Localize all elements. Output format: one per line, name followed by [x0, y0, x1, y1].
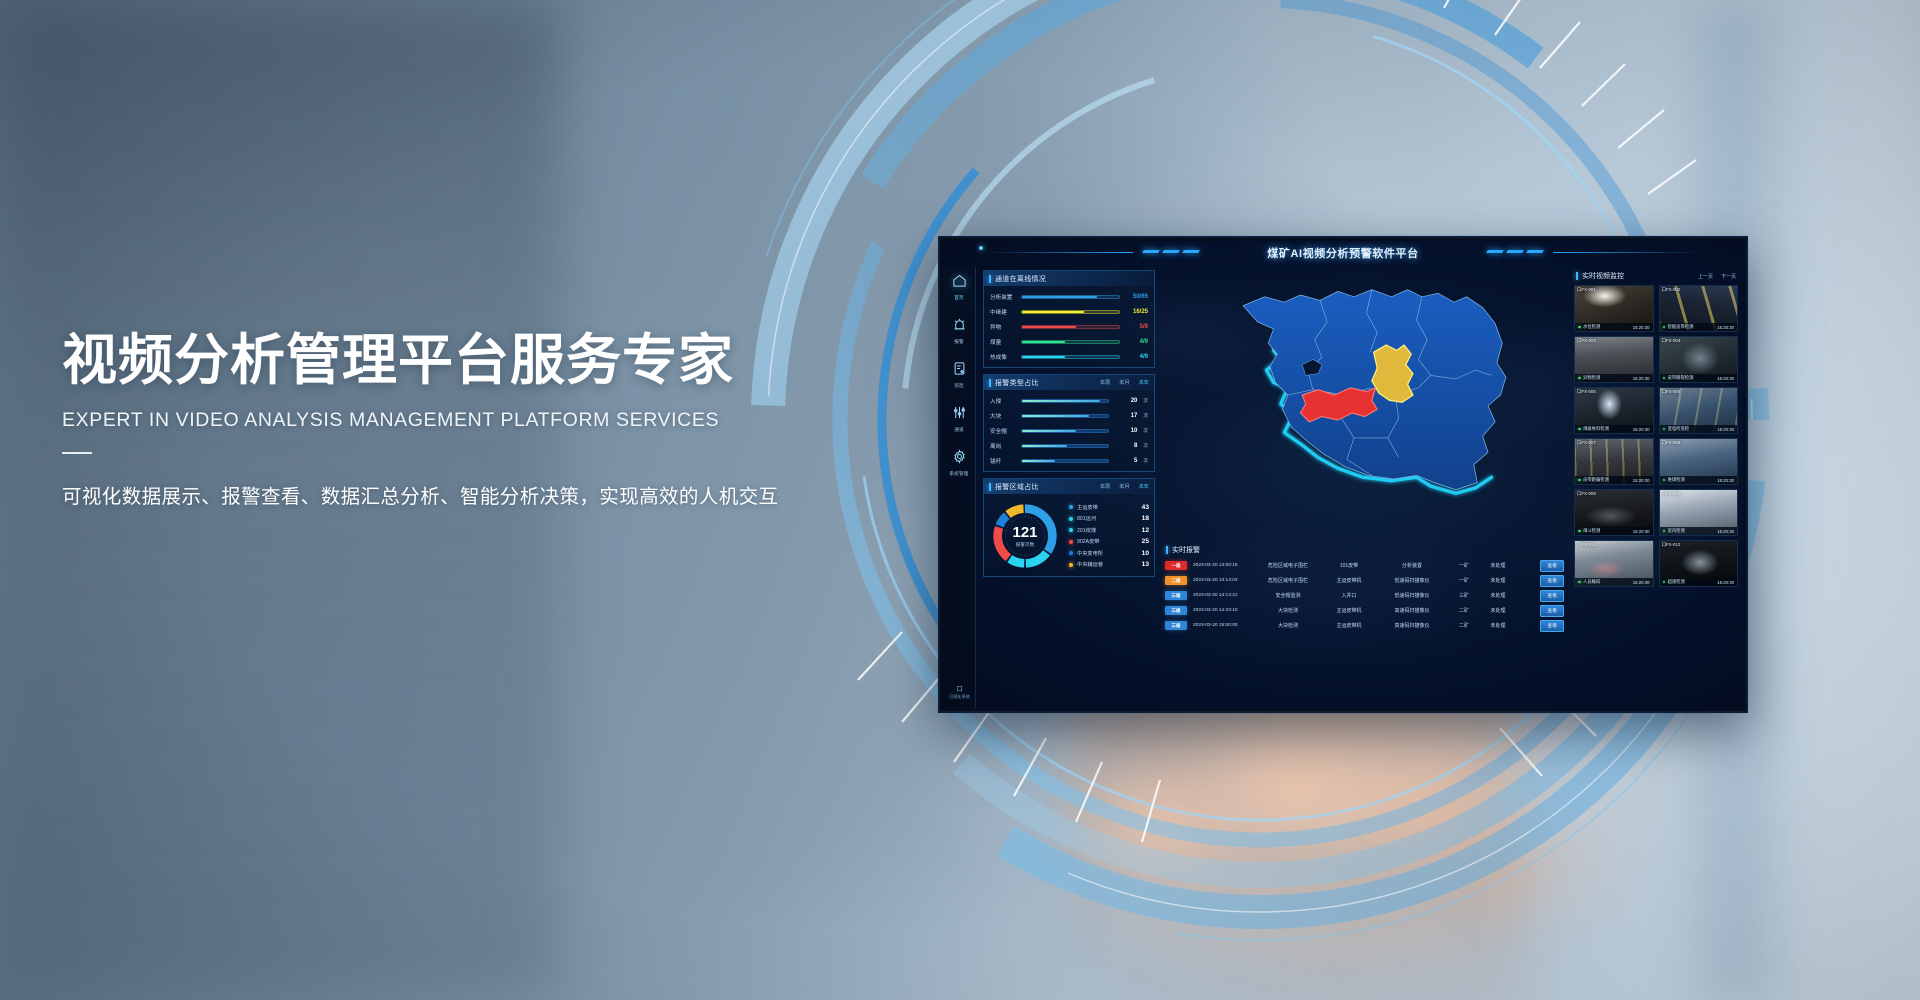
video-tile-footer: 异物检测15:20:30: [1575, 374, 1653, 382]
video-next-page-button[interactable]: 下一页: [1721, 273, 1736, 280]
alarm-type-fill: [1022, 445, 1067, 448]
channel-status-panel: 通道在离线情况 分析装置50/65中继建16/25异物5/9煤量4/9热成像4/…: [983, 270, 1155, 368]
panel-accent-bar-icon: [1166, 546, 1168, 554]
video-tile-name: 皮带撕裂检测: [1668, 375, 1694, 381]
alarm-type-value: 20: [1114, 398, 1137, 404]
view-alarm-button[interactable]: 查看: [1540, 620, 1564, 632]
online-status-icon: [1663, 581, 1666, 584]
realtime-alarm-table: 一级2023-03-20 13:00:16危险区域电子围栏101皮带分析装置一矿…: [1162, 558, 1571, 633]
video-tile-time: 15:20:30: [1633, 529, 1650, 534]
video-tile-footer: 煤斗检测15:20:30: [1575, 527, 1653, 535]
alarm-type-name: 安全帽: [990, 427, 1016, 435]
alarm-type-track: [1021, 429, 1109, 434]
sidebar-item-channel[interactable]: 通道: [943, 405, 976, 433]
channel-row-name: 热成像: [990, 353, 1016, 361]
alarm-type-tab-本月[interactable]: 本月: [1119, 379, 1129, 386]
donut-legend-item: 801运河18: [1069, 515, 1149, 522]
settings-icon: [952, 449, 967, 469]
video-panel-title: 实时视频监控: [1582, 271, 1624, 281]
alarm-type-track: [1021, 399, 1109, 404]
alarm-type-unit: 次: [1143, 398, 1148, 404]
legend-value: 18: [1142, 515, 1149, 522]
legend-color-dot-icon: [1069, 563, 1073, 567]
alarm-mine: 三矿: [1447, 592, 1481, 599]
online-status-icon: [1663, 530, 1666, 533]
video-camera-id: 口FX-002: [1662, 287, 1681, 293]
video-camera-id: 口FX-012: [1662, 542, 1681, 548]
hero-title: 视频分析管理平台服务专家: [62, 328, 782, 393]
alarm-status: 未处理: [1481, 592, 1515, 599]
online-status-icon: [1663, 479, 1666, 482]
legend-label: 201绞煤: [1077, 527, 1138, 534]
dashboard-sidebar: 首页 报警 巡检 通道: [943, 267, 976, 708]
alarm-area-tab-本周[interactable]: 本周: [1100, 483, 1110, 490]
alarm-type-name: 锚杆: [990, 457, 1016, 465]
video-surveillance-panel: 实时视频监控 上一页 下一页 口FX-001水位检测15:20:30口FX-00…: [1574, 270, 1738, 705]
legend-color-dot-icon: [1069, 505, 1073, 509]
alarm-type-fill: [1022, 430, 1076, 433]
sidebar-item-home[interactable]: 首页: [943, 273, 976, 301]
channel-row-fill: [1022, 296, 1097, 299]
alarm-location: 主运皮带机: [1321, 607, 1377, 614]
channel-row-track: [1021, 325, 1120, 330]
channel-row-value: 50/65: [1125, 294, 1148, 300]
alarm-device: 高速码扫描像仪: [1377, 622, 1447, 629]
video-tile-footer: 皮带跑偏检测15:20:30: [1575, 476, 1653, 484]
video-tile[interactable]: 口FX-008堆煤检测15:20:30: [1659, 438, 1739, 485]
video-tile-footer: 室内检测15:20:30: [1660, 527, 1738, 535]
alarm-type-value: 10: [1114, 428, 1137, 434]
hero-text-block: 视频分析管理平台服务专家 EXPERT IN VIDEO ANALYSIS MA…: [62, 328, 782, 509]
legend-label: 801运河: [1077, 515, 1138, 522]
dashboard-title: 煤矿AI视频分析预警软件平台: [943, 245, 1743, 261]
video-tile-time: 15:20:30: [1717, 478, 1734, 483]
legend-value: 25: [1142, 538, 1149, 545]
video-tile[interactable]: 口FX-010室内检测15:20:30: [1659, 489, 1739, 536]
channel-row-fill: [1022, 326, 1076, 329]
sidebar-label-home: 首页: [954, 295, 964, 301]
alarm-type-track: [1021, 414, 1109, 419]
alarm-mine: 二矿: [1447, 622, 1481, 629]
alarm-device: 低速码扫描像仪: [1377, 592, 1447, 599]
video-tile[interactable]: 口FX-002智能皮带检测15:20:30: [1659, 285, 1739, 332]
alarm-type: 危险区域电子围栏: [1255, 577, 1321, 584]
donut-center-value: 121: [1012, 525, 1037, 540]
video-tile-name: 变电所巡检: [1668, 426, 1689, 432]
video-tile[interactable]: 口FX-005煤级堆料检测15:20:30: [1574, 387, 1654, 434]
video-prev-page-button[interactable]: 上一页: [1698, 273, 1713, 280]
alarm-icon: [952, 317, 967, 337]
video-camera-id: 口FX-011: [1577, 542, 1595, 548]
donut-legend-item: 主运皮带43: [1069, 504, 1149, 511]
alarm-type-track: [1021, 444, 1109, 449]
video-tile-name: 智能皮带检测: [1668, 324, 1694, 330]
video-tile-name: 煤斗检测: [1583, 528, 1600, 534]
donut-center: 121 报警次数: [989, 500, 1061, 572]
video-tile-name: 堆煤检测: [1668, 477, 1685, 483]
table-row: 三级2023-03-20 14:13:21安全帽监测入井口低速码扫描像仪三矿未处…: [1165, 588, 1568, 603]
video-tile-footer: 智能皮带检测15:20:30: [1660, 323, 1738, 331]
alarm-type-panel-title: 报警类型占比: [995, 378, 1039, 388]
sidebar-footer-mark: 口: [943, 684, 976, 693]
video-tile-footer: 人员睡岗15:20:30: [1575, 578, 1653, 586]
video-tile-footer: 皮带撕裂检测15:20:30: [1660, 374, 1738, 382]
sidebar-label-settings: 系统管理: [949, 471, 968, 477]
alarm-type: 安全帽监测: [1255, 592, 1321, 599]
video-tile[interactable]: 口FX-011人员睡岗15:20:30: [1574, 540, 1654, 587]
alarm-location: 主运皮带机: [1321, 622, 1377, 629]
alarm-type-panel-header: 报警类型占比 本周本月本年: [984, 375, 1154, 390]
alarm-area-panel: 报警区域占比 本周本月本年 121 报警次数 主运皮带43801运河18201绞…: [983, 478, 1155, 577]
alarm-type-row: 锚杆5次: [990, 457, 1148, 465]
video-tile-footer: 煤级堆料检测15:20:30: [1575, 425, 1653, 433]
video-camera-id: 口FX-010: [1662, 491, 1681, 497]
video-grid: 口FX-001水位检测15:20:30口FX-002智能皮带检测15:20:30…: [1574, 285, 1738, 587]
video-tile-name: 皮带跑偏检测: [1583, 477, 1609, 483]
online-status-icon: [1578, 479, 1581, 482]
alarm-type-row: 安全帽10次: [990, 427, 1148, 435]
region-map[interactable]: [1162, 270, 1571, 538]
alarm-type-row: 离岗8次: [990, 442, 1148, 450]
channel-row: 分析装置50/65: [990, 293, 1148, 301]
sidebar-label-channel: 通道: [954, 427, 964, 433]
hero-subtitle: EXPERT IN VIDEO ANALYSIS MANAGEMENT PLAT…: [62, 409, 782, 432]
video-tile[interactable]: 口FX-003异物检测15:20:30: [1574, 336, 1654, 383]
status-badge: 三级: [1165, 591, 1187, 600]
channel-row-name: 分析装置: [990, 293, 1016, 301]
donut-legend-item: 201绞煤12: [1069, 527, 1149, 534]
channel-icon: [952, 405, 967, 425]
alarm-time: 2023-03-20 13:00:16: [1193, 563, 1255, 568]
status-badge: 二级: [1165, 576, 1187, 585]
online-status-icon: [1578, 377, 1581, 380]
video-tile[interactable]: 口FX-004皮带撕裂检测15:20:30: [1659, 336, 1739, 383]
channel-row-track: [1021, 340, 1120, 345]
legend-color-dot-icon: [1069, 517, 1073, 521]
legend-value: 13: [1142, 561, 1149, 568]
alarm-time: 2023-03-20 15:00:00: [1193, 623, 1255, 628]
donut-legend-item: 中央变电所10: [1069, 550, 1149, 557]
video-camera-id: 口FX-007: [1577, 440, 1596, 446]
legend-color-dot-icon: [1069, 528, 1073, 532]
alarm-status: 未处理: [1481, 577, 1515, 584]
video-camera-id: 口FX-008: [1662, 440, 1681, 446]
legend-color-dot-icon: [1069, 540, 1073, 544]
video-tile-name: 超速检测: [1668, 579, 1685, 585]
video-tile-time: 15:20:30: [1633, 427, 1650, 432]
alarm-area-panel-title: 报警区域占比: [995, 482, 1039, 492]
alarm-type: 大块检测: [1255, 607, 1321, 614]
view-alarm-button[interactable]: 查看: [1540, 560, 1564, 572]
alarm-location: 入井口: [1321, 592, 1377, 599]
channel-row-value: 4/9: [1125, 339, 1148, 345]
legend-color-dot-icon: [1069, 551, 1073, 555]
video-camera-id: 口FX-006: [1662, 389, 1681, 395]
alarm-mine: 一矿: [1447, 577, 1481, 584]
alarm-type: 危险区域电子围栏: [1255, 562, 1321, 569]
online-status-icon: [1663, 428, 1666, 431]
video-tile-footer: 堆煤检测15:20:30: [1660, 476, 1738, 484]
alarm-area-tab-本月[interactable]: 本月: [1119, 483, 1129, 490]
video-camera-id: 口FX-001: [1577, 287, 1596, 293]
hero-description: 可视化数据展示、报警查看、数据汇总分析、智能分析决策，实现高效的人机交互: [62, 480, 782, 509]
channel-row: 热成像4/9: [990, 353, 1148, 361]
channel-row-value: 5/9: [1125, 324, 1148, 330]
panel-accent-bar-icon: [989, 483, 991, 491]
view-alarm-button[interactable]: 查看: [1540, 605, 1564, 617]
dashboard-screen: 煤矿AI视频分析预警软件平台 首页 报警 巡检: [943, 241, 1743, 708]
video-tile-time: 15:20:30: [1633, 580, 1650, 585]
video-camera-id: 口FX-005: [1577, 389, 1596, 395]
alarm-type-tab-本年[interactable]: 本年: [1139, 379, 1149, 386]
panel-accent-bar-icon: [989, 275, 991, 283]
sidebar-label-alarm: 报警: [954, 339, 964, 345]
legend-label: 中央变电所: [1077, 550, 1138, 557]
channel-row: 异物5/9: [990, 323, 1148, 331]
alarm-area-tab-本年[interactable]: 本年: [1139, 483, 1149, 490]
channel-rows: 分析装置50/65中继建16/25异物5/9煤量4/9热成像4/9: [984, 286, 1154, 367]
alarm-device: 分析装置: [1377, 562, 1447, 569]
channel-row-track: [1021, 295, 1120, 300]
online-status-icon: [1578, 326, 1581, 329]
sidebar-footer: 口 可视化系统: [943, 684, 976, 700]
video-tile-time: 15:20:30: [1633, 376, 1650, 381]
alarm-type-name: 大块: [990, 412, 1016, 420]
alarm-time: 2023-03-20 13:14:03: [1193, 578, 1255, 583]
channel-row-name: 中继建: [990, 308, 1016, 316]
alarm-type-unit: 次: [1143, 443, 1148, 449]
view-alarm-button[interactable]: 查看: [1540, 575, 1564, 587]
alarm-type-unit: 次: [1143, 458, 1148, 464]
realtime-alarm-panel: 实时报警 一级2023-03-20 13:00:16危险区域电子围栏101皮带分…: [1162, 543, 1571, 705]
video-tile-time: 15:20:30: [1633, 478, 1650, 483]
left-column: 通道在离线情况 分析装置50/65中继建16/25异物5/9煤量4/9热成像4/…: [983, 270, 1155, 705]
online-status-icon: [1663, 377, 1666, 380]
video-pagination[interactable]: 上一页 下一页: [1698, 273, 1736, 280]
legend-label: 中央辅运巷: [1077, 561, 1138, 568]
legend-value: 12: [1142, 527, 1149, 534]
video-tile[interactable]: 口FX-006变电所巡检15:20:30: [1659, 387, 1739, 434]
video-tile-footer: 水位检测15:20:30: [1575, 323, 1653, 331]
video-camera-id: 口FX-004: [1662, 338, 1681, 344]
video-tile[interactable]: 口FX-012超速检测15:20:30: [1659, 540, 1739, 587]
alarm-type-unit: 次: [1143, 428, 1148, 434]
alarm-area-chart-area: 121 报警次数 主运皮带43801运河18201绞煤12902A皮带25中央变…: [984, 494, 1154, 576]
video-tile-time: 15:20:30: [1717, 529, 1734, 534]
legend-value: 10: [1142, 550, 1149, 557]
video-camera-id: 口FX-009: [1577, 491, 1596, 497]
status-badge: 一级: [1165, 561, 1187, 570]
channel-panel-title: 通道在离线情况: [995, 274, 1046, 284]
legend-label: 902A皮带: [1077, 538, 1138, 545]
alarm-type-track: [1021, 459, 1109, 464]
video-tile-time: 15:20:30: [1717, 580, 1734, 585]
video-tile[interactable]: 口FX-001水位检测15:20:30: [1574, 285, 1654, 332]
status-badge: 三级: [1165, 606, 1187, 615]
legend-label: 主运皮带: [1077, 504, 1138, 511]
donut-center-label: 报警次数: [1016, 542, 1034, 548]
panel-accent-bar-icon: [989, 379, 991, 387]
alarm-type-fill: [1022, 400, 1100, 403]
alarm-type-value: 17: [1114, 413, 1137, 419]
video-tile-footer: 变电所巡检15:20:30: [1660, 425, 1738, 433]
dashboard-header: 煤矿AI视频分析预警软件平台: [943, 241, 1743, 271]
inspection-icon: [952, 361, 967, 381]
alarm-area-panel-header: 报警区域占比 本周本月本年: [984, 479, 1154, 494]
video-camera-id: 口FX-003: [1577, 338, 1596, 344]
video-tile-name: 水位检测: [1583, 324, 1600, 330]
alarm-location: 主运皮带机: [1321, 577, 1377, 584]
sidebar-footer-label: 可视化系统: [943, 694, 976, 700]
alarm-type-tabs[interactable]: 本周本月本年: [1100, 379, 1149, 386]
view-alarm-button[interactable]: 查看: [1540, 590, 1564, 602]
alarm-type: 大块检测: [1255, 622, 1321, 629]
video-tile-name: 室内检测: [1668, 528, 1685, 534]
alarm-location: 101皮带: [1321, 562, 1377, 569]
alarm-area-tabs[interactable]: 本周本月本年: [1100, 483, 1149, 490]
alarm-status: 未处理: [1481, 622, 1515, 629]
channel-row-fill: [1022, 356, 1065, 359]
channel-row: 中继建16/25: [990, 308, 1148, 316]
video-tile-time: 15:20:30: [1717, 427, 1734, 432]
alarm-type-row: 入侵20次: [990, 397, 1148, 405]
alarm-type-fill: [1022, 415, 1089, 418]
video-tile-name: 人员睡岗: [1583, 579, 1600, 585]
alarm-time: 2023-03-20 14:13:21: [1193, 593, 1255, 598]
video-tile[interactable]: 口FX-007皮带跑偏检测15:20:30: [1574, 438, 1654, 485]
legend-value: 43: [1142, 504, 1149, 511]
channel-panel-header: 通道在离线情况: [984, 271, 1154, 286]
alarm-type-panel: 报警类型占比 本周本月本年 入侵20次大块17次安全帽10次离岗8次锚杆5次: [983, 374, 1155, 472]
sidebar-item-settings[interactable]: 系统管理: [943, 449, 976, 477]
realtime-alarm-title: 实时报警: [1172, 545, 1200, 555]
alarm-mine: 二矿: [1447, 607, 1481, 614]
online-status-icon: [1578, 428, 1581, 431]
donut-legend-item: 中央辅运巷13: [1069, 561, 1149, 568]
alarm-time: 2023-03-20 14:43:10: [1193, 608, 1255, 613]
channel-row-track: [1021, 310, 1120, 315]
dashboard-content: 通道在离线情况 分析装置50/65中继建16/25异物5/9煤量4/9热成像4/…: [976, 267, 1743, 708]
video-tile-time: 15:20:30: [1717, 376, 1734, 381]
dashboard-monitor: 煤矿AI视频分析预警软件平台 首页 报警 巡检: [938, 236, 1748, 713]
alarm-type-unit: 次: [1143, 413, 1148, 419]
channel-row-name: 异物: [990, 323, 1016, 331]
status-badge: 三级: [1165, 621, 1187, 630]
alarm-type-rows: 入侵20次大块17次安全帽10次离岗8次锚杆5次: [984, 390, 1154, 471]
channel-row-fill: [1022, 341, 1065, 344]
channel-row-track: [1021, 355, 1120, 360]
realtime-alarm-header: 实时报警: [1162, 543, 1571, 558]
video-tile[interactable]: 口FX-009煤斗检测15:20:30: [1574, 489, 1654, 536]
video-panel-header: 实时视频监控 上一页 下一页: [1574, 270, 1738, 285]
online-status-icon: [1663, 326, 1666, 329]
channel-row-value: 4/9: [1125, 354, 1148, 360]
alarm-type-value: 8: [1114, 443, 1137, 449]
alarm-type-value: 5: [1114, 458, 1137, 464]
alarm-type-name: 入侵: [990, 397, 1016, 405]
online-status-icon: [1578, 530, 1581, 533]
video-tile-name: 煤级堆料检测: [1583, 426, 1609, 432]
alarm-mine: 一矿: [1447, 562, 1481, 569]
donut-legend-item: 902A皮带25: [1069, 538, 1149, 545]
alarm-device: 低速码扫描像仪: [1377, 577, 1447, 584]
alarm-status: 未处理: [1481, 562, 1515, 569]
alarm-type-row: 大块17次: [990, 412, 1148, 420]
alarm-type-name: 离岗: [990, 442, 1016, 450]
table-row: 一级2023-03-20 13:00:16危险区域电子围栏101皮带分析装置一矿…: [1165, 558, 1568, 573]
donut-legend: 主运皮带43801运河18201绞煤12902A皮带25中央变电所10中央辅运巷…: [1065, 504, 1149, 569]
panel-accent-bar-icon: [1576, 272, 1578, 280]
channel-row-fill: [1022, 311, 1084, 314]
alarm-donut-chart: 121 报警次数: [989, 500, 1061, 572]
home-icon: [952, 273, 967, 293]
alarm-device: 高速码扫描像仪: [1377, 607, 1447, 614]
hero-divider: [62, 452, 92, 454]
table-row: 二级2023-03-20 13:14:03危险区域电子围栏主运皮带机低速码扫描像…: [1165, 573, 1568, 588]
alarm-type-tab-本周[interactable]: 本周: [1100, 379, 1110, 386]
video-tile-name: 异物检测: [1583, 375, 1600, 381]
alarm-type-fill: [1022, 460, 1055, 463]
table-row: 三级2023-03-20 15:00:00大块检测主运皮带机高速码扫描像仪二矿未…: [1165, 618, 1568, 633]
video-tile-time: 15:20:30: [1633, 325, 1650, 330]
online-status-icon: [1578, 581, 1581, 584]
channel-row-name: 煤量: [990, 338, 1016, 346]
table-row: 三级2023-03-20 14:43:10大块检测主运皮带机高速码扫描像仪二矿未…: [1165, 603, 1568, 618]
video-tile-time: 15:20:30: [1717, 325, 1734, 330]
sidebar-item-inspection[interactable]: 巡检: [943, 361, 976, 389]
video-tile-footer: 超速检测15:20:30: [1660, 578, 1738, 586]
alarm-status: 未处理: [1481, 607, 1515, 614]
channel-row-value: 16/25: [1125, 309, 1148, 315]
sidebar-label-inspection: 巡检: [954, 383, 964, 389]
channel-row: 煤量4/9: [990, 338, 1148, 346]
sidebar-item-alarm[interactable]: 报警: [943, 317, 976, 345]
